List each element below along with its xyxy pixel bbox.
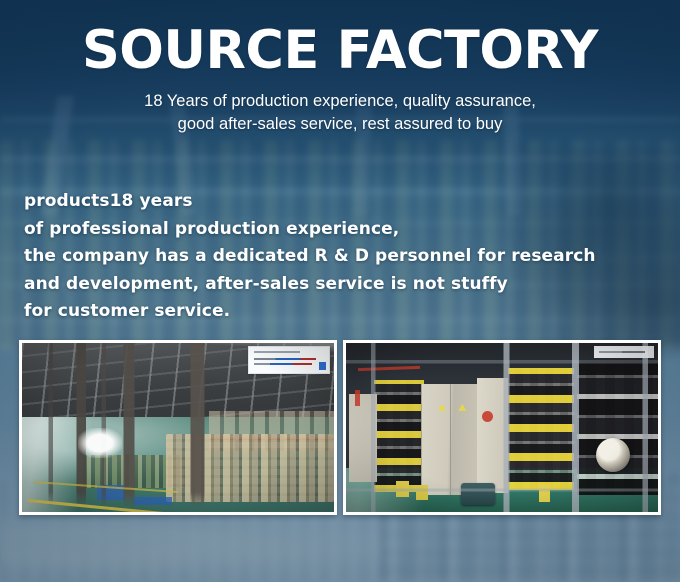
- source-factory-banner: SOURCE FACTORY 18 Years of production ex…: [0, 0, 680, 582]
- photo-strip: [0, 340, 680, 515]
- body-line-1: products18 years: [24, 188, 640, 216]
- braiding-machine-photo: [343, 340, 661, 515]
- subtitle-line-1: 18 Years of production experience, quali…: [144, 92, 536, 110]
- body-copy: products18 years of professional product…: [24, 188, 640, 326]
- subtitle-line-2: good after-sales service, rest assured t…: [0, 113, 680, 136]
- subtitle: 18 Years of production experience, quali…: [0, 90, 680, 136]
- machine-photo-vignette: [346, 343, 658, 512]
- body-line-5: for customer service.: [24, 298, 640, 326]
- warehouse-image: [22, 343, 334, 512]
- braiding-machine-image: [346, 343, 658, 512]
- body-line-4: and development, after-sales service is …: [24, 271, 640, 299]
- warehouse-photo-vignette: [22, 343, 334, 512]
- page-title: SOURCE FACTORY: [3, 24, 676, 77]
- body-line-2: of professional production experience,: [24, 216, 640, 244]
- headline-wrap: SOURCE FACTORY: [0, 24, 680, 77]
- factory-warehouse-photo: [19, 340, 337, 515]
- body-line-3: the company has a dedicated R & D person…: [24, 243, 640, 271]
